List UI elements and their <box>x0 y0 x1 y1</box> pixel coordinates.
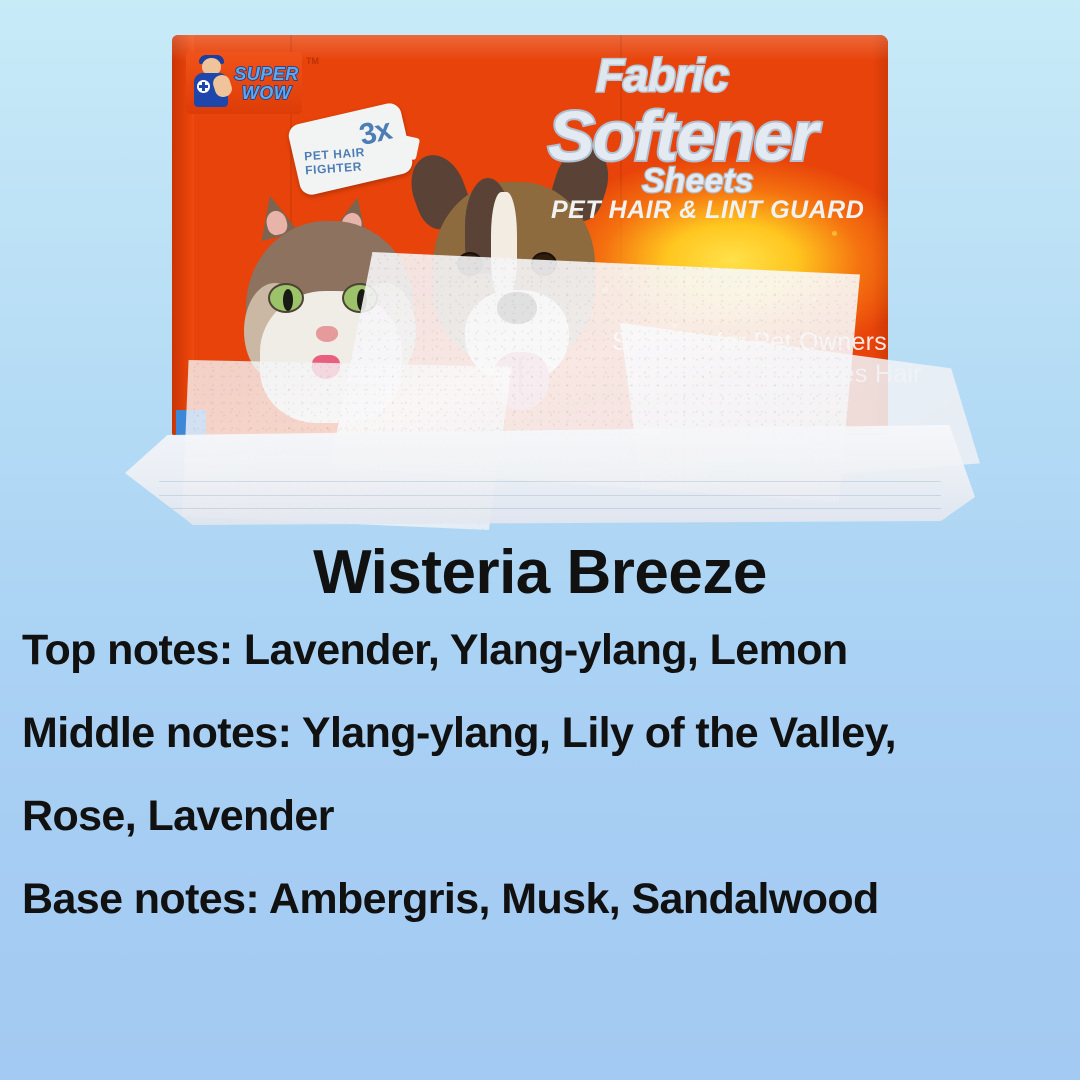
box-title-fabric: Fabric <box>596 48 728 102</box>
scent-note-base: Base notes: Ambergris, Musk, Sandalwood <box>22 878 1060 921</box>
box-subcopy-line-2: Removes Hair <box>760 360 922 389</box>
box-title-guard: PET HAIR & LINT GUARD <box>551 196 864 225</box>
scent-note-middle: Middle notes: Ylang-ylang, Lily of the V… <box>22 712 1060 755</box>
scent-note-middle-cont: Rose, Lavender <box>22 795 1060 838</box>
box-copy: Fabric Softener Sheets PET HAIR & LINT G… <box>0 0 1080 535</box>
box-subcopy-line-1: Softener for Pet Owners <box>612 328 887 357</box>
scent-note-top: Top notes: Lavender, Ylang-ylang, Lemon <box>22 629 1060 672</box>
scent-notes-list: Top notes: Lavender, Ylang-ylang, Lemon … <box>0 629 1080 921</box>
scent-title: Wisteria Breeze <box>0 540 1080 605</box>
product-photo: SUPER WOW TM 3x PET HAIR FIGHTER Fabric … <box>0 0 1080 535</box>
scent-description: Wisteria Breeze Top notes: Lavender, Yla… <box>0 520 1080 921</box>
box-blue-tab <box>176 410 206 436</box>
